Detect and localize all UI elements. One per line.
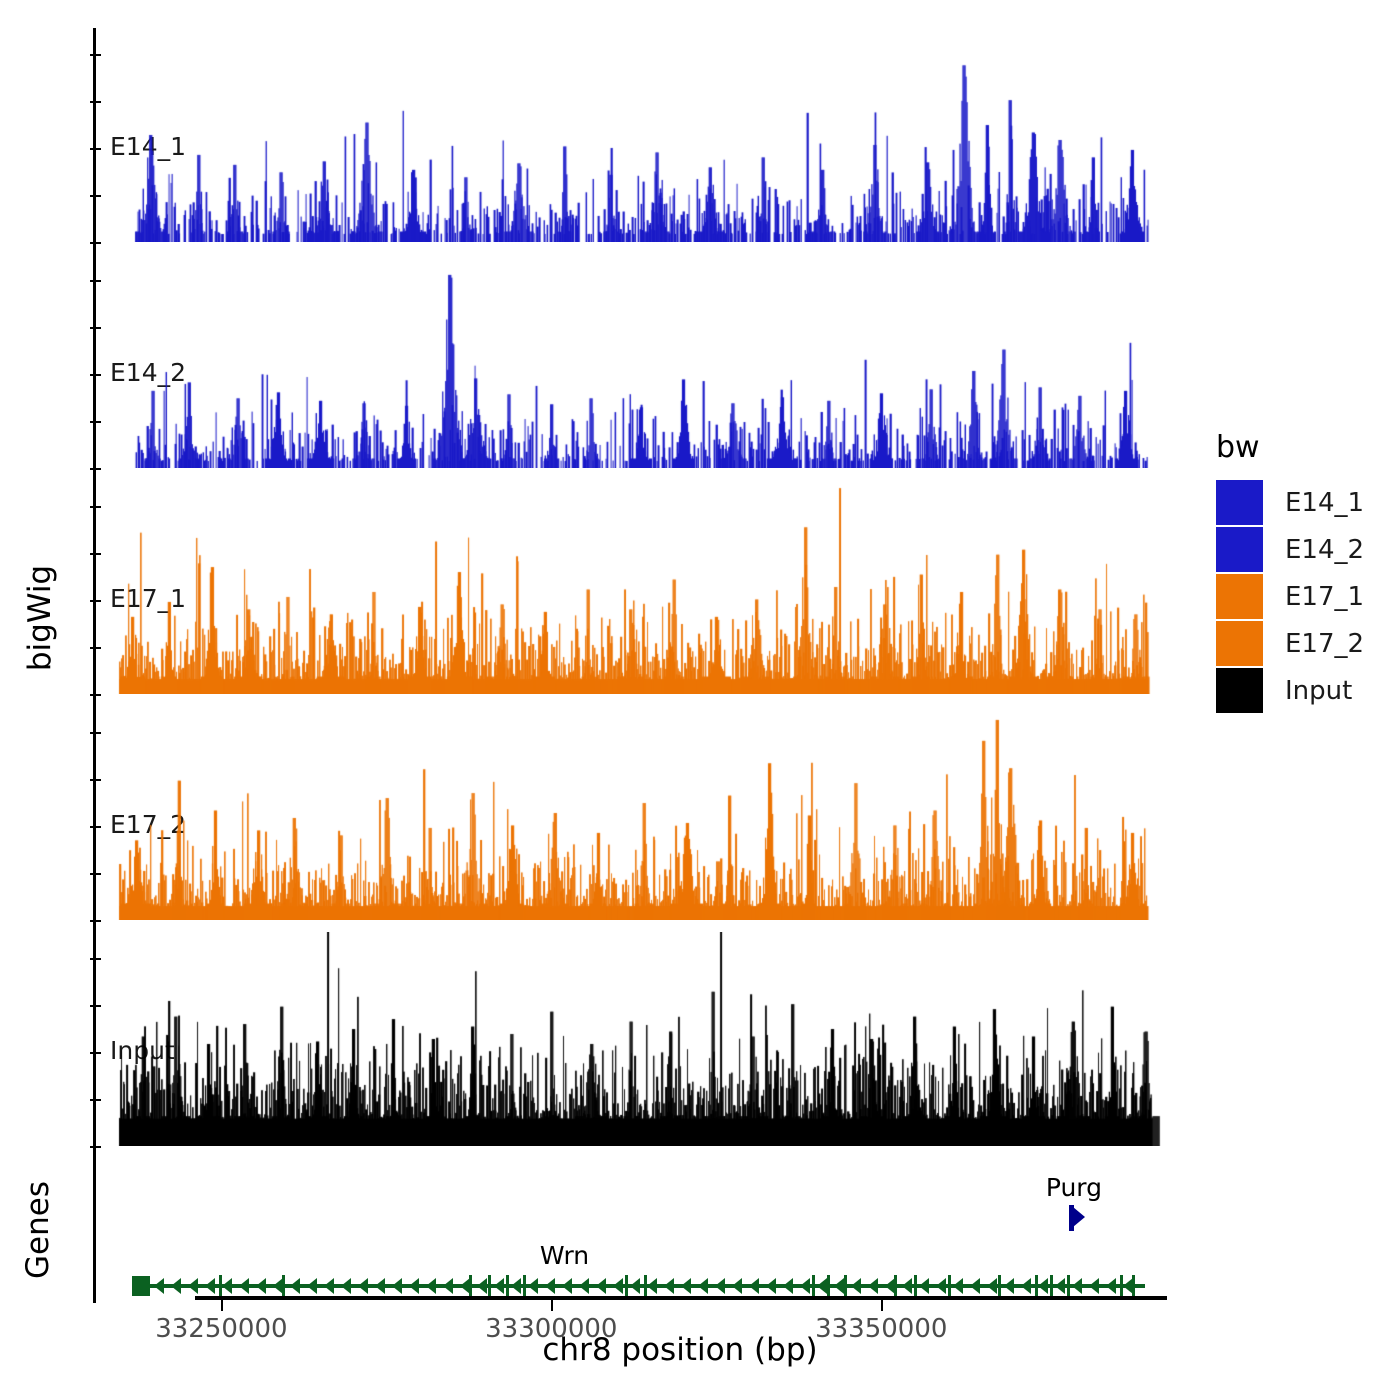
track-canvas-e17_2 <box>96 706 1165 920</box>
gene-strand-arrow-left <box>188 1278 198 1294</box>
legend-item-e17_1[interactable]: E17_1 <box>1216 573 1364 620</box>
legend-label-e14_1: E14_1 <box>1285 488 1364 518</box>
legend-title: bw <box>1216 430 1364 465</box>
gene-exon-mark <box>894 1275 897 1297</box>
track-canvas-e17_1 <box>96 480 1165 694</box>
track-canvas-e14_1 <box>96 28 1165 242</box>
gene-exon-mark <box>844 1275 847 1297</box>
gene-strand-arrow-left <box>511 1278 521 1294</box>
gene-strand-arrow-left <box>392 1278 402 1294</box>
gene-exon-mark <box>914 1275 917 1297</box>
legend-swatch-e14_1 <box>1216 480 1263 525</box>
gene-strand-arrow-left <box>324 1278 334 1294</box>
gene-strand-arrow-left <box>698 1278 708 1294</box>
track-plot-area <box>96 706 1165 932</box>
gene-exon-mark <box>998 1275 1001 1297</box>
x-tick-label: 33250000 <box>111 1314 331 1344</box>
gene-exon-mark <box>469 1275 472 1297</box>
gene-strand-arrow-left <box>902 1278 912 1294</box>
gene-strand-arrow-left <box>987 1278 997 1294</box>
gene-exon-block <box>132 1276 150 1296</box>
y-axis-title-bigwig: bigWig <box>22 518 58 718</box>
gene-strand-arrow-left <box>1021 1278 1031 1294</box>
gene-strand-arrow-left <box>154 1278 164 1294</box>
gene-strand-arrow-left <box>970 1278 980 1294</box>
gene-label-wrn: Wrn <box>540 1241 589 1270</box>
gene-exon-mark <box>1050 1275 1053 1297</box>
gene-strand-arrow-left <box>868 1278 878 1294</box>
gene-strand-arrow-left <box>664 1278 674 1294</box>
gene-strand-arrow-left <box>256 1278 266 1294</box>
gene-exon-mark <box>812 1275 815 1297</box>
gene-strand-arrow-left <box>494 1278 504 1294</box>
legend-swatch-e17_2 <box>1216 621 1263 666</box>
legend-items: E14_1E14_2E17_1E17_2Input <box>1216 479 1364 714</box>
gene-strand-arrow-left <box>1038 1278 1048 1294</box>
gene-exon-mark <box>1067 1275 1070 1297</box>
gene-exon-mark <box>282 1275 285 1297</box>
legend-item-e14_2[interactable]: E14_2 <box>1216 526 1364 573</box>
gene-strand-arrow-left <box>647 1278 657 1294</box>
genes-axis-line <box>93 1155 96 1303</box>
legend-label-e14_2: E14_2 <box>1285 535 1364 565</box>
track-plot-area <box>96 28 1165 254</box>
gene-strand-arrow-left <box>783 1278 793 1294</box>
genome-browser-figure: bigWig Genes chr8 position (bp) 01234E14… <box>0 0 1400 1400</box>
gene-strand-arrow-left <box>375 1278 385 1294</box>
gene-strand-arrow-left <box>936 1278 946 1294</box>
track-plot-area <box>96 480 1165 706</box>
track-panel-e17_1: 01234E17_1 <box>93 480 1165 706</box>
gene-exon-mark <box>948 1275 951 1297</box>
gene-strand-arrow-left <box>1004 1278 1014 1294</box>
gene-strand-arrow-left <box>222 1278 232 1294</box>
gene-strand-arrow-left <box>443 1278 453 1294</box>
track-plot-area <box>96 254 1165 480</box>
gene-strand-arrow-left <box>1106 1278 1116 1294</box>
gene-strand-arrow-left <box>562 1278 572 1294</box>
gene-strand-arrow-left <box>596 1278 606 1294</box>
gene-strand-arrow-left <box>851 1278 861 1294</box>
gene-strand-arrow-left <box>579 1278 589 1294</box>
legend-item-e17_2[interactable]: E17_2 <box>1216 620 1364 667</box>
track-canvas-input <box>96 932 1165 1146</box>
x-axis-line <box>195 1296 1167 1300</box>
gene-strand-arrow-left <box>1055 1278 1065 1294</box>
gene-strand-arrow-left <box>953 1278 963 1294</box>
legend-swatch-e14_2 <box>1216 527 1263 572</box>
legend-label-e17_2: E17_2 <box>1285 629 1364 659</box>
legend: bw E14_1E14_2E17_1E17_2Input <box>1216 430 1364 714</box>
track-canvas-e14_2 <box>96 254 1165 468</box>
track-panel-e14_2: 01234E14_2 <box>93 254 1165 480</box>
gene-purg[interactable] <box>1069 1203 1083 1233</box>
track-plot-area <box>96 932 1165 1158</box>
legend-item-e14_1[interactable]: E14_1 <box>1216 479 1364 526</box>
x-axis-title: chr8 position (bp) <box>195 1332 1165 1368</box>
gene-label-purg: Purg <box>1046 1173 1102 1202</box>
gene-strand-arrow-left <box>307 1278 317 1294</box>
gene-strand-arrow-left <box>409 1278 419 1294</box>
gene-strand-arrow-left <box>732 1278 742 1294</box>
legend-label-input: Input <box>1285 676 1352 706</box>
gene-exon-mark <box>625 1275 628 1297</box>
gene-strand-arrow-left <box>1072 1278 1082 1294</box>
track-panel-input: 01234Input <box>93 932 1165 1158</box>
gene-strand-arrow-left <box>749 1278 759 1294</box>
gene-strand-arrow-left <box>426 1278 436 1294</box>
gene-strand-arrow-left <box>800 1278 810 1294</box>
gene-strand-arrow-left <box>290 1278 300 1294</box>
y-axis-title-genes: Genes <box>20 1130 56 1330</box>
gene-strand-arrow-left <box>817 1278 827 1294</box>
legend-label-e17_1: E17_1 <box>1285 582 1364 612</box>
gene-strand-arrow-left <box>239 1278 249 1294</box>
gene-strand-arrow-left <box>358 1278 368 1294</box>
gene-track-panel: WrnPurg <box>93 1155 1165 1305</box>
gene-exon-mark <box>1132 1275 1135 1297</box>
gene-exon-mark <box>827 1275 830 1297</box>
gene-strand-arrow-left <box>477 1278 487 1294</box>
gene-strand-arrow-left <box>766 1278 776 1294</box>
legend-item-input[interactable]: Input <box>1216 667 1364 714</box>
track-panel-e17_2: 01234E17_2 <box>93 706 1165 932</box>
legend-swatch-input <box>1216 668 1263 713</box>
gene-strand-arrow-left <box>341 1278 351 1294</box>
x-tick-label: 33300000 <box>441 1314 661 1344</box>
gene-strand-arrow-left <box>919 1278 929 1294</box>
legend-swatch-e17_1 <box>1216 574 1263 619</box>
x-tick <box>551 1300 553 1311</box>
x-tick-label: 33350000 <box>771 1314 991 1344</box>
x-tick <box>881 1300 883 1311</box>
gene-strand-arrow-left <box>528 1278 538 1294</box>
gene-strand-arrow-left <box>1089 1278 1099 1294</box>
track-panel-e14_1: 01234E14_1 <box>93 28 1165 254</box>
gene-strand-arrow-left <box>205 1278 215 1294</box>
gene-strand-arrow-left <box>613 1278 623 1294</box>
gene-strand-arrow-left <box>715 1278 725 1294</box>
gene-exon-mark <box>523 1275 526 1297</box>
x-tick <box>221 1300 223 1311</box>
gene-exon-mark <box>506 1275 509 1297</box>
gene-strand-arrow-left <box>630 1278 640 1294</box>
gene-strand-arrow-left <box>681 1278 691 1294</box>
gene-strand-arrow-left <box>545 1278 555 1294</box>
gene-strand-arrow-left <box>171 1278 181 1294</box>
gene-strand-arrow-right <box>1073 1207 1085 1227</box>
gene-exon-mark <box>488 1275 491 1297</box>
